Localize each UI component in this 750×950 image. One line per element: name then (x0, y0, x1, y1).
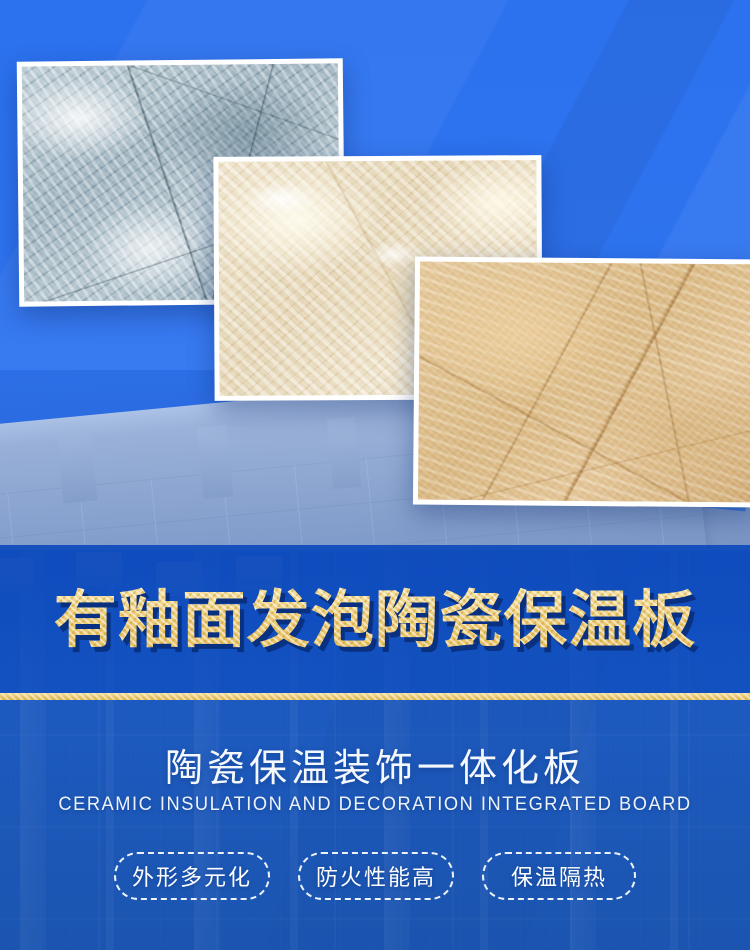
page-title: 有釉面发泡陶瓷保温板 (0, 580, 750, 660)
feature-badge-3[interactable]: 保温隔热 (482, 852, 636, 900)
subtitle-english: CERAMIC INSULATION AND DECORATION INTEGR… (15, 794, 735, 816)
tile-surface-tan-marble (418, 262, 750, 503)
feature-badge-2[interactable]: 防火性能高 (298, 852, 454, 900)
gold-divider (0, 693, 750, 700)
tile-veining (418, 262, 750, 503)
feature-badge-list: 外形多元化 防火性能高 保温隔热 (0, 852, 750, 900)
product-poster: 有釉面发泡陶瓷保温板 陶瓷保温装饰一体化板 CERAMIC INSULATION… (0, 0, 750, 950)
feature-badge-1[interactable]: 外形多元化 (114, 852, 270, 900)
subtitle-chinese: 陶瓷保温装饰一体化板 (0, 737, 750, 792)
product-tile-3 (413, 257, 750, 508)
